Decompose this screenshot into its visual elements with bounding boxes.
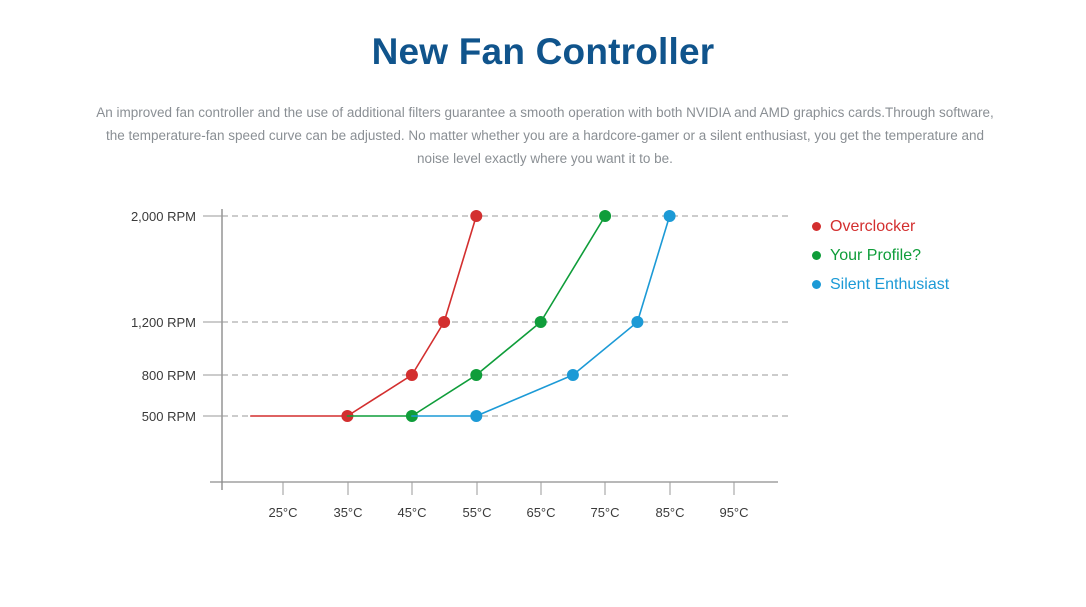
data-point[interactable] <box>470 369 482 381</box>
legend-label-silent-enthusiast: Silent Enthusiast <box>830 276 949 294</box>
data-point[interactable] <box>664 210 676 222</box>
fan-controller-page: New Fan Controller An improved fan contr… <box>0 0 1086 607</box>
data-point[interactable] <box>631 316 643 328</box>
data-point[interactable] <box>567 369 579 381</box>
x-axis-label-55: 55°C <box>462 505 491 520</box>
y-axis-label-1200: 1,200 RPM <box>131 315 196 330</box>
y-axis-label-500: 500 RPM <box>142 409 196 424</box>
chart-svg: 2,000 RPM 1,200 RPM 800 RPM 500 RPM 25°C… <box>0 0 1086 607</box>
legend-dot-icon-silent-enthusiast <box>812 280 821 289</box>
data-point[interactable] <box>470 210 482 222</box>
chart-legend: Overclocker Your Profile? Silent Enthusi… <box>812 212 1042 299</box>
series-line <box>251 216 476 416</box>
data-point[interactable] <box>406 369 418 381</box>
x-axis-labels: 25°C 35°C 45°C 55°C 65°C 75°C 85°C 95°C <box>268 505 748 520</box>
axes <box>210 209 778 490</box>
x-axis-label-25: 25°C <box>268 505 297 520</box>
gridlines <box>222 216 792 416</box>
data-point[interactable] <box>535 316 547 328</box>
data-point[interactable] <box>470 410 482 422</box>
y-axis-label-800: 800 RPM <box>142 368 196 383</box>
data-point[interactable] <box>438 316 450 328</box>
legend-item-your-profile[interactable]: Your Profile? <box>812 241 1042 270</box>
data-point[interactable] <box>599 210 611 222</box>
x-axis-label-35: 35°C <box>333 505 362 520</box>
legend-item-silent-enthusiast[interactable]: Silent Enthusiast <box>812 270 1042 299</box>
series-line <box>347 216 605 416</box>
legend-dot-icon-your-profile <box>812 251 821 260</box>
legend-label-overclocker: Overclocker <box>830 218 915 236</box>
fan-curve-chart: 2,000 RPM 1,200 RPM 800 RPM 500 RPM 25°C… <box>0 0 1086 607</box>
x-axis-ticks <box>283 482 734 495</box>
legend-dot-icon-overclocker <box>812 222 821 231</box>
x-axis-label-95: 95°C <box>719 505 748 520</box>
x-axis-label-75: 75°C <box>590 505 619 520</box>
series-line <box>412 216 670 416</box>
series-overclocker <box>251 210 482 422</box>
y-axis-label-2000: 2,000 RPM <box>131 209 196 224</box>
x-axis-label-45: 45°C <box>397 505 426 520</box>
legend-item-overclocker[interactable]: Overclocker <box>812 212 1042 241</box>
x-axis-label-65: 65°C <box>526 505 555 520</box>
legend-label-your-profile: Your Profile? <box>830 247 921 265</box>
y-axis-labels: 2,000 RPM 1,200 RPM 800 RPM 500 RPM <box>131 209 196 424</box>
y-axis-ticks <box>203 216 228 416</box>
series-layer <box>251 210 676 422</box>
x-axis-label-85: 85°C <box>655 505 684 520</box>
